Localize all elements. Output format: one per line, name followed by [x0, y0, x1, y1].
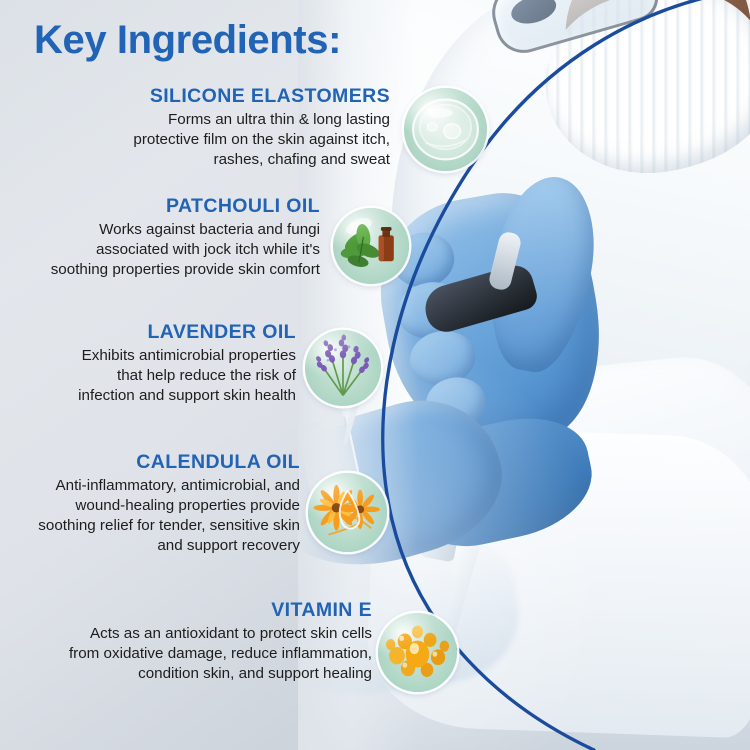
- ingredient-name: CALENDULA OIL: [0, 452, 300, 473]
- ingredient-name: VITAMIN E: [10, 600, 372, 621]
- ingredient-description: Forms an ultra thin & long lasting prote…: [20, 110, 390, 169]
- patchouli-leaf-bottle-icon: [333, 208, 409, 284]
- ingredient-description: Anti-inflammatory, antimicrobial, and wo…: [0, 476, 300, 555]
- calendula-flower-icon: [308, 473, 387, 552]
- ingredient-block-silicone-elastomers: SILICONE ELASTOMERS Forms an ultra thin …: [20, 86, 390, 170]
- ingredient-block-calendula-oil: CALENDULA OIL Anti-inflammatory, antimic…: [0, 452, 300, 555]
- vitamin-e-softgel-icon: [378, 613, 457, 692]
- lavender-sprig-icon: [305, 330, 381, 406]
- page-title: Key Ingredients:: [34, 18, 341, 63]
- ingredient-block-patchouli-oil: PATCHOULI OIL Works against bacteria and…: [20, 196, 320, 280]
- infographic-poster: Key Ingredients: SILICONE ELASTOMERS For…: [0, 0, 750, 750]
- ingredient-description: Works against bacteria and fungi associa…: [20, 220, 320, 279]
- ingredient-name: SILICONE ELASTOMERS: [20, 86, 390, 107]
- ingredient-block-vitamin-e: VITAMIN E Acts as an antioxidant to prot…: [10, 600, 372, 684]
- silicone-film-droplet-icon: [404, 88, 487, 171]
- ingredient-block-lavender-oil: LAVENDER OIL Exhibits antimicrobial prop…: [10, 322, 296, 406]
- ingredient-name: PATCHOULI OIL: [20, 196, 320, 217]
- ingredient-description: Acts as an antioxidant to protect skin c…: [10, 624, 372, 683]
- ingredient-description: Exhibits antimicrobial properties that h…: [10, 346, 296, 405]
- ingredient-name: LAVENDER OIL: [10, 322, 296, 343]
